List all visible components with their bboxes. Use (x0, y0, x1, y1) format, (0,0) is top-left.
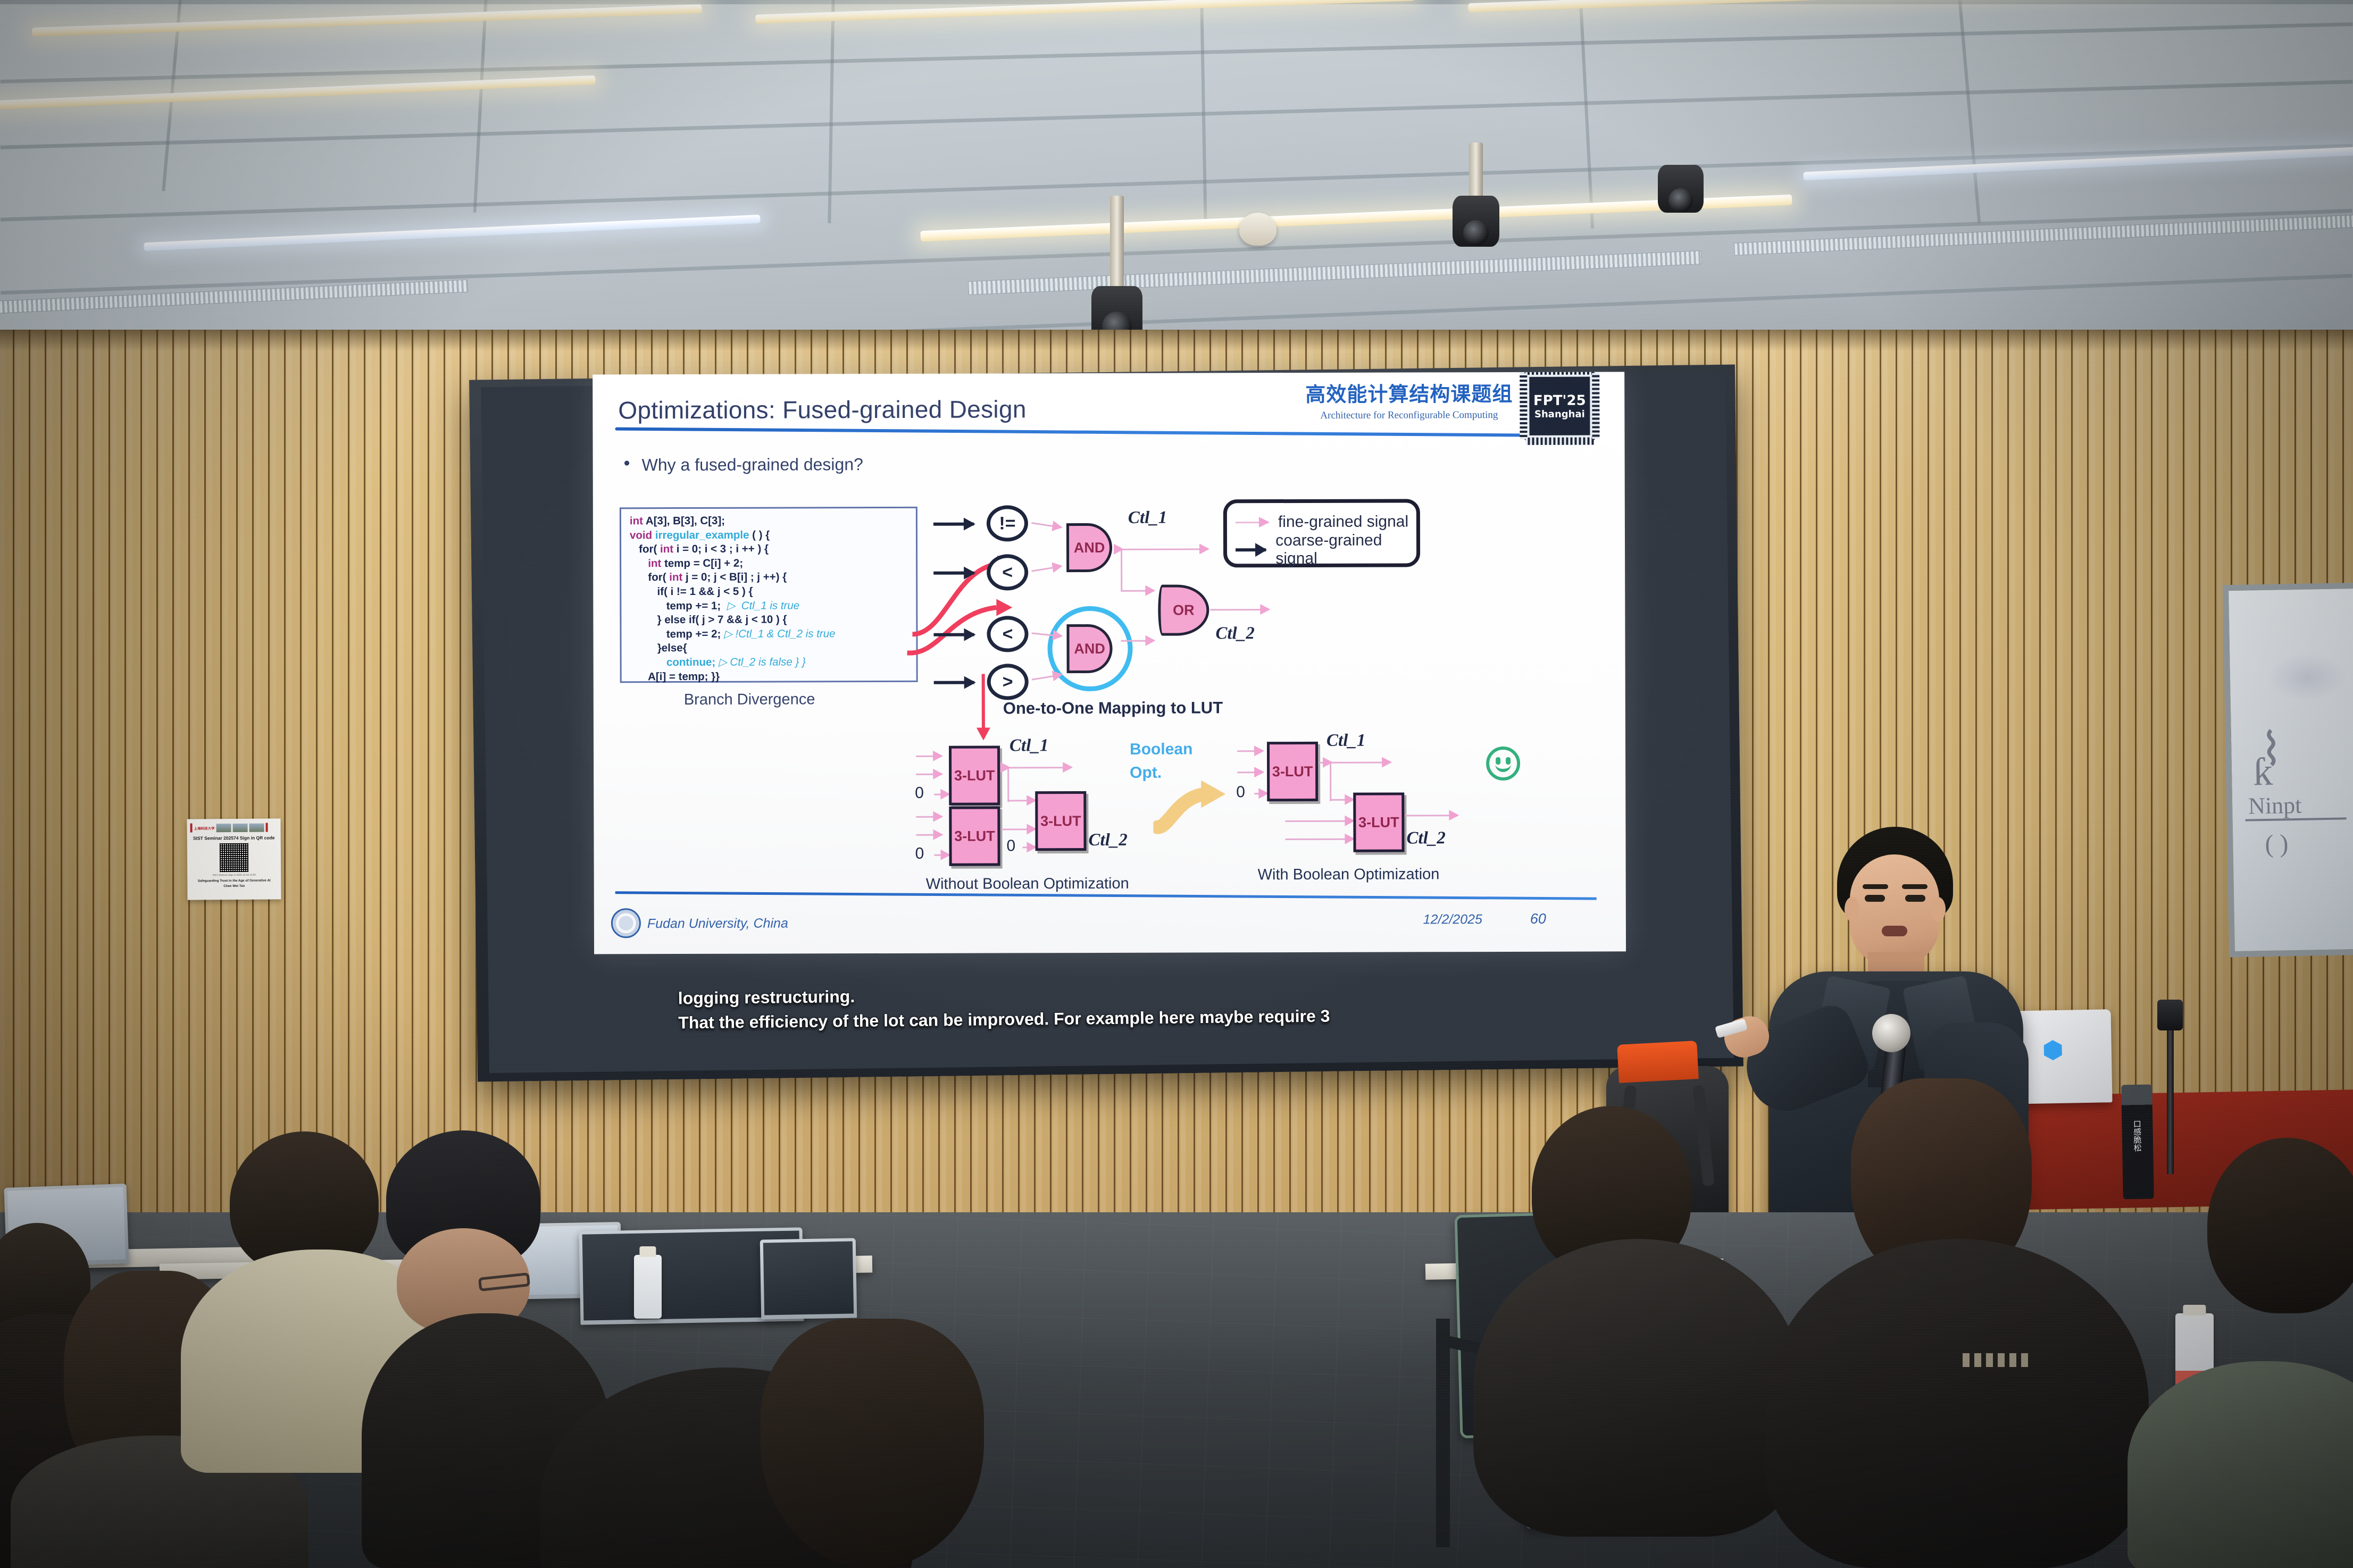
fine-grained-arrow-icon (1236, 522, 1269, 523)
audience-laptop (760, 1238, 857, 1319)
footer-page-number: 60 (1530, 911, 1546, 927)
audience-hood (1473, 1239, 1803, 1537)
presentation-slide: Optimizations: Fused-grained Design Why … (593, 372, 1626, 954)
group-logo: 高效能计算结构课题组 Architecture for Reconfigurab… (1305, 378, 1513, 422)
legend-coarse-label: coarse-grained signal (1275, 531, 1416, 568)
presenter-face (1850, 854, 1939, 966)
ceiling (0, 0, 2353, 372)
chip-label-line2: Shanghai (1534, 408, 1585, 420)
code-listing: int A[3], B[3], C[3]; void irregular_exa… (620, 507, 918, 683)
title-underline (615, 427, 1588, 438)
lut-block-2: 3-LUT (949, 806, 1000, 866)
ctl-1-label-gates: Ctl_1 (1128, 508, 1167, 528)
ptz-camera (1447, 142, 1505, 265)
ctl-2-label-lut-right: Ctl_2 (1406, 828, 1445, 848)
slide-bullet: Why a fused-grained design? (642, 455, 863, 475)
podium-bottle: 口感脆松 (2121, 1085, 2154, 1200)
microphone-head (1872, 1014, 1910, 1052)
water-bottle (634, 1255, 662, 1319)
boolean-opt-arrow-icon (1153, 776, 1233, 834)
audience-head (2207, 1138, 2353, 1313)
presenter-ear (1931, 897, 1946, 921)
legend-fine-label: fine-grained signal (1278, 513, 1408, 531)
presenter-eye (1865, 895, 1885, 902)
caption-without-opt: Without Boolean Optimization (926, 875, 1129, 893)
ceiling-light-tube (144, 215, 761, 251)
coarse-grained-arrow-icon (1236, 548, 1266, 551)
lut-input-zero: 0 (915, 845, 924, 863)
live-caption: logging restructuring. That the efficien… (678, 976, 1636, 1035)
logo-english-text: Architecture for Reconfigurable Computin… (1305, 409, 1513, 422)
poster-subtext: SIST Seminar Sign in 2025-12-02 10:00 (190, 873, 278, 876)
lut-block-4: 3-LUT (1267, 742, 1318, 801)
ctl-2-label-lut-left: Ctl_2 (1088, 831, 1127, 850)
presenter-mouth (1882, 926, 1907, 936)
presenter-ear (1845, 897, 1859, 921)
chip-label-line1: FPT'25 (1533, 392, 1586, 408)
projection-screen: Optimizations: Fused-grained Design Why … (469, 365, 1743, 1082)
comparator-gt: > (987, 664, 1029, 700)
slide-title: Optimizations: Fused-grained Design (618, 395, 1026, 424)
lut-block-5: 3-LUT (1353, 792, 1404, 852)
hood-brand-logo-icon (1963, 1353, 2032, 1367)
chair-frame (1436, 1319, 1450, 1547)
ctl-2-label-gates: Ctl_2 (1215, 624, 1254, 643)
lut-block-3: 3-LUT (1035, 791, 1086, 851)
qr-code-image (220, 843, 248, 872)
fudan-seal-icon (611, 908, 641, 938)
ptz-camera (1654, 165, 1707, 255)
fpt25-chip-logo: FPT'25 Shanghai (1525, 373, 1593, 439)
mapping-label: One-to-One Mapping to LUT (1003, 698, 1223, 718)
lut-mapping-diagram: 0 3-LUT 0 3-LUT Ctl_1 0 3-LUT (913, 739, 1594, 884)
lut-input-zero: 0 (915, 784, 924, 802)
lut-input-zero: 0 (1006, 837, 1015, 855)
audience-hair (761, 1319, 984, 1568)
lut-input-zero: 0 (1236, 783, 1245, 801)
microphone-mount (2157, 1000, 2183, 1030)
branch-divergence-caption: Branch Divergence (684, 691, 815, 709)
footer-affiliation: Fudan University, China (647, 916, 788, 932)
presenter-eye (1905, 895, 1925, 902)
comparator-lt-1: < (987, 554, 1028, 590)
ceiling-vent (968, 250, 1702, 295)
mapping-down-arrow (982, 674, 985, 730)
signal-legend: fine-grained signal coarse-grained signa… (1223, 499, 1420, 567)
microphone-stand (2167, 1014, 2174, 1174)
lut-block-1: 3-LUT (949, 745, 1000, 805)
ctl-1-label-lut-right: Ctl_1 (1326, 731, 1365, 751)
and-gate-1: AND (1066, 523, 1112, 572)
audience-hood (1766, 1239, 2149, 1568)
laptop-logo-icon (2043, 1040, 2062, 1061)
comparator-neq: != (987, 505, 1028, 541)
seminar-poster: 上海科技大学 SIST Seminar 202574 Sign in QR co… (187, 818, 281, 900)
ceiling-light-tube (32, 4, 702, 37)
footer-date: 12/2/2025 (1423, 912, 1482, 927)
smiley-face-icon (1486, 747, 1520, 781)
presenter-brow (1863, 884, 1888, 889)
or-gate: OR (1158, 584, 1209, 635)
poster-title: SIST Seminar 202574 Sign in QR code (190, 835, 278, 841)
presenter-brow (1902, 884, 1928, 889)
ctl-1-label-lut-left: Ctl_1 (1009, 736, 1048, 756)
poster-org: 上海科技大学 (194, 825, 215, 831)
smoke-detector (1239, 213, 1276, 246)
whiteboard: ⌇ ƙ Ninpt ( ) (2223, 583, 2353, 957)
logo-chinese-text: 高效能计算结构课题组 (1305, 378, 1513, 407)
poster-talk-title: Safeguarding Trust in the Age of Generat… (190, 878, 278, 883)
lecture-hall-scene: 上海科技大学 SIST Seminar 202574 Sign in QR co… (0, 0, 2353, 1568)
comparator-lt-2: < (987, 616, 1028, 652)
caption-with-opt: With Boolean Optimization (1258, 866, 1440, 884)
orange-jacket (1617, 1041, 1699, 1083)
logic-gate-diagram: != < < > AND AND Ctl_1 (933, 500, 1264, 693)
bottle-label-text: 口感脆松 (2132, 1120, 2143, 1152)
poster-speaker: Chee Wei Tan (190, 884, 278, 888)
